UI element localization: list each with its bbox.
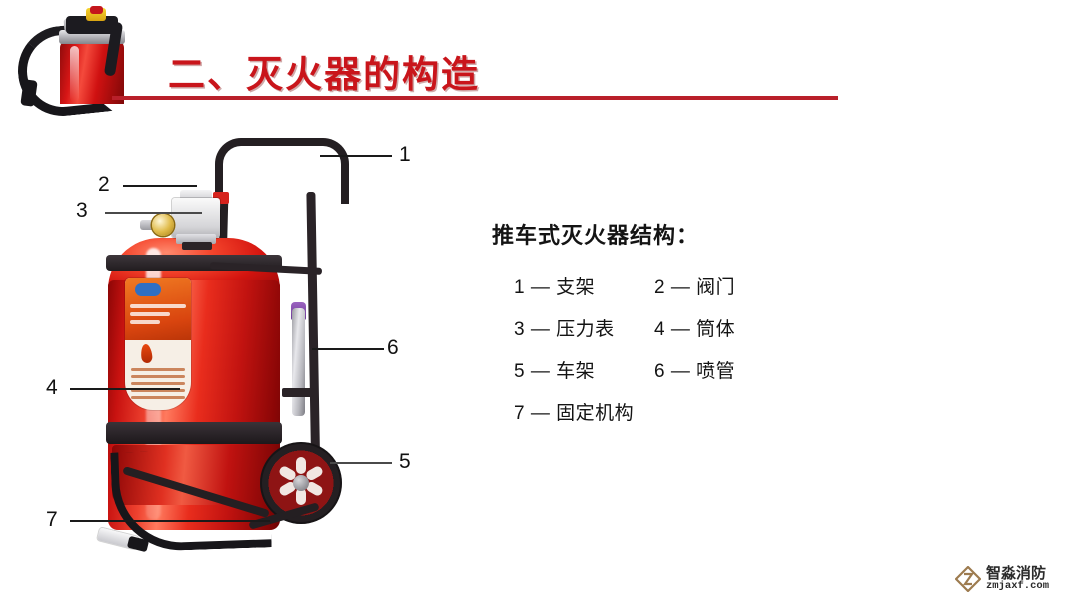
leader-line-2 [123,185,197,187]
label-header-band [125,278,191,340]
diamond-z-logo-icon [955,566,981,592]
cylinder-band-bottom [106,422,282,444]
pressure-gauge-icon [152,214,174,236]
label-line [131,382,185,385]
callout-number-2: 2 [98,174,110,195]
legend-item-6: 6 — 喷管 [654,356,794,383]
label-text-lines [130,304,186,328]
cylinder-neck [182,242,212,250]
fire-extinguisher-photo [12,0,172,100]
legend-item-4: 4 — 筒体 [654,314,794,341]
leader-line-4 [70,388,180,390]
legend-item-2: 2 — 阀门 [654,272,794,299]
label-line [130,304,186,308]
leader-line-6 [312,348,384,350]
cylinder-highlight [70,46,79,102]
wheeled-fire-extinguisher-photo [60,120,420,580]
leader-line-1 [320,155,392,157]
legend-row: 3 — 压力表 4 — 筒体 [514,314,822,341]
label-instruction-lines [131,368,185,403]
label-line [131,375,185,378]
legend-row: 7 — 固定机构 [514,398,822,425]
label-line [131,368,185,371]
page-title: 二、灭火器的构造 [168,44,480,98]
legend-row: 5 — 车架 6 — 喷管 [514,356,822,383]
callout-number-3: 3 [76,200,88,221]
watermark-text: 智淼消防 zmjaxf.com [986,566,1049,593]
watermark-url: zmjaxf.com [986,581,1049,592]
flame-icon [140,343,153,363]
legend-title: 推车式灭火器结构： [492,218,822,250]
nozzle-clip [282,388,314,397]
callout-number-5: 5 [399,451,411,472]
callout-number-6: 6 [387,337,399,358]
legend-rows: 1 — 支架 2 — 阀门 3 — 压力表 4 — 筒体 5 — 车架 6 — … [514,272,822,425]
legend-row: 1 — 支架 2 — 阀门 [514,272,822,299]
label-line [130,320,160,324]
leader-line-5 [330,462,392,464]
legend-item-1: 1 — 支架 [514,272,654,299]
label-line [131,396,185,399]
handle-frame-icon [215,138,349,204]
legend-item-7: 7 — 固定机构 [514,398,654,425]
legend-item-5: 5 — 车架 [514,356,654,383]
watermark: 智淼消防 zmjaxf.com [955,558,1073,600]
callout-number-1: 1 [399,144,411,165]
product-label [125,278,191,410]
slide-canvas: 二、灭火器的构造 [0,0,1080,608]
wheel-spoke [296,457,306,474]
title-underline-rule [112,96,838,100]
label-badge-icon [135,283,161,296]
legend-item-3: 3 — 压力表 [514,314,654,341]
valve-assembly [172,198,220,238]
callout-number-7: 7 [46,509,58,530]
legend-panel: 推车式灭火器结构： 1 — 支架 2 — 阀门 3 — 压力表 4 — 筒体 5… [492,218,822,440]
leader-line-3 [105,212,202,214]
wheel-hub [293,475,309,491]
label-line [130,312,170,316]
callout-number-4: 4 [46,377,58,398]
watermark-company: 智淼消防 [986,566,1049,582]
safety-seal-icon [90,6,103,14]
spray-tube [292,308,305,416]
leader-line-7 [70,520,270,522]
